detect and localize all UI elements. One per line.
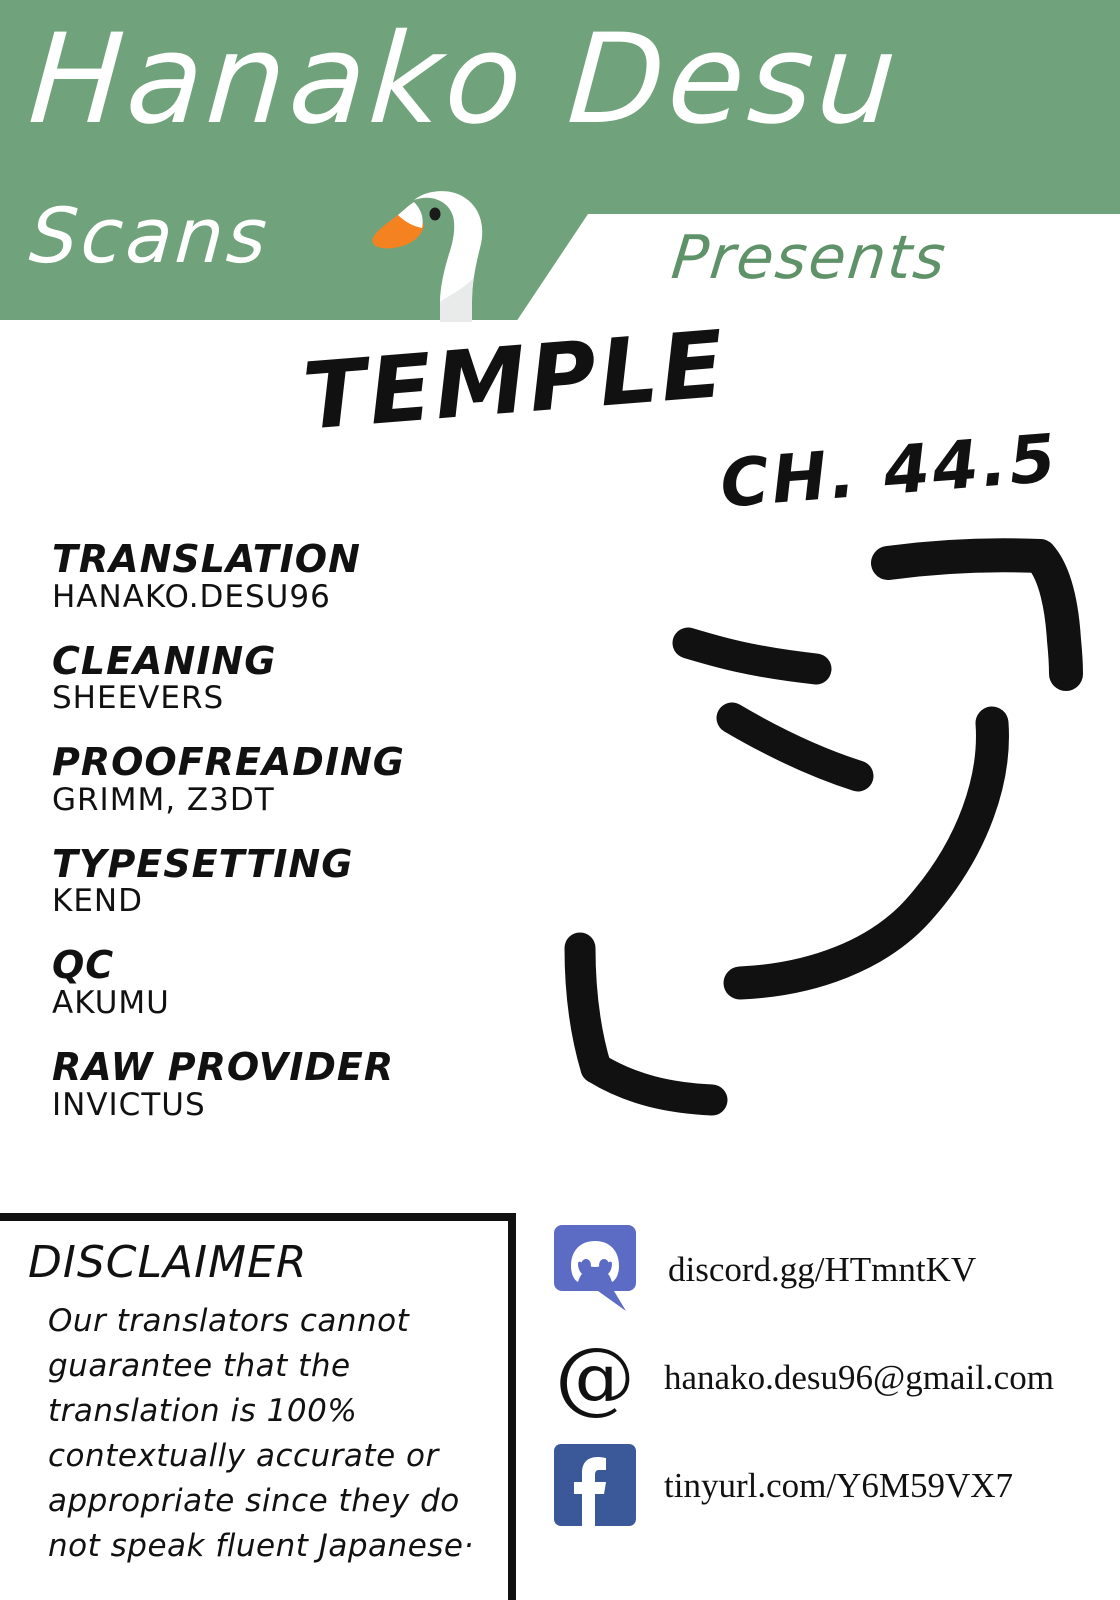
facebook-icon <box>552 1442 638 1528</box>
credit-entry: CLEANING SHEEVERS <box>52 642 512 718</box>
social-label: tinyurl.com/Y6M59VX7 <box>664 1468 1013 1503</box>
credit-entry: TYPESETTING KEND <box>52 845 512 921</box>
credit-entry: PROOFREADING GRIMM, Z3DT <box>52 743 512 819</box>
credit-name: HANAKO.DESU96 <box>52 580 512 616</box>
social-link-discord[interactable]: discord.gg/HTmntKV <box>552 1216 1112 1322</box>
brand-subtitle: Scans <box>27 198 272 274</box>
credits-page: Hanako Desu Scans Presents TEMPLE CH. 44… <box>0 0 1120 1600</box>
series-title: TEMPLE <box>300 319 730 444</box>
credit-entry: TRANSLATION HANAKO.DESU96 <box>52 540 512 616</box>
goose-head-icon <box>352 190 522 322</box>
at-sign-icon: @ <box>552 1334 638 1420</box>
svg-text:@: @ <box>555 1334 635 1420</box>
disclaimer-box: DISCLAIMER Our translators cannot guaran… <box>0 1213 516 1600</box>
social-link-facebook[interactable]: tinyurl.com/Y6M59VX7 <box>552 1432 1112 1538</box>
credit-role: QC <box>52 946 512 986</box>
credit-name: INVICTUS <box>52 1088 512 1124</box>
discord-icon <box>552 1226 638 1312</box>
credit-name: KEND <box>52 884 512 920</box>
credit-role: CLEANING <box>52 642 512 682</box>
social-label: hanako.desu96@gmail.com <box>664 1360 1054 1395</box>
credit-name: GRIMM, Z3DT <box>52 783 512 819</box>
katakana-brush-strokes <box>540 528 1100 1118</box>
credit-role: TRANSLATION <box>52 540 512 580</box>
credit-entry: QC AKUMU <box>52 946 512 1022</box>
presents-label: Presents <box>669 228 950 288</box>
credit-role: RAW PROVIDER <box>52 1048 512 1088</box>
brand-title: Hanako Desu <box>26 18 905 142</box>
credit-name: AKUMU <box>52 986 512 1022</box>
credit-role: TYPESETTING <box>52 845 512 885</box>
credits-list: TRANSLATION HANAKO.DESU96 CLEANING SHEEV… <box>52 540 512 1149</box>
chapter-number: CH. 44.5 <box>718 425 1061 517</box>
credit-name: SHEEVERS <box>52 681 512 717</box>
credit-role: PROOFREADING <box>52 743 512 783</box>
disclaimer-title: DISCLAIMER <box>28 1241 307 1285</box>
credit-entry: RAW PROVIDER INVICTUS <box>52 1048 512 1124</box>
disclaimer-text: Our translators cannot guarantee that th… <box>48 1299 500 1569</box>
social-link-email[interactable]: @ hanako.desu96@gmail.com <box>552 1324 1112 1430</box>
social-links: discord.gg/HTmntKV @ hanako.desu96@gmail… <box>552 1212 1112 1538</box>
social-label: discord.gg/HTmntKV <box>668 1252 976 1287</box>
